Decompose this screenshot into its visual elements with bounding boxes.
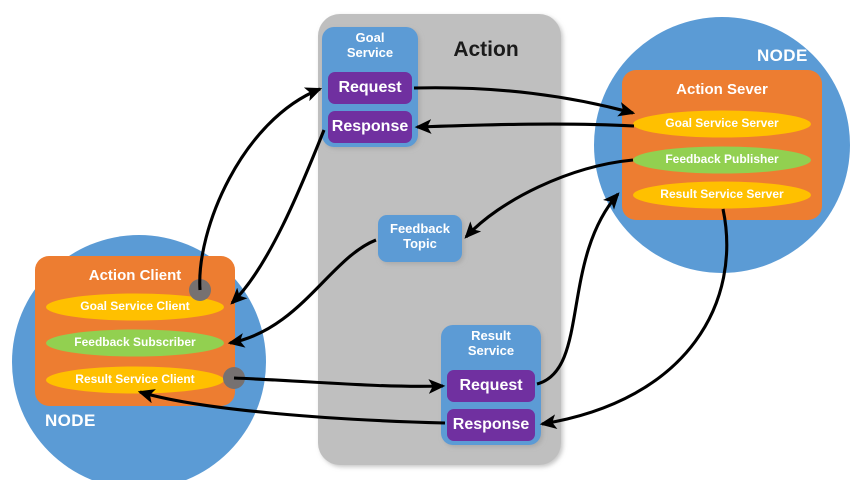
pill-label-result-service-server[interactable]: Result Service Server <box>633 188 811 201</box>
pill-label-goal-service-server[interactable]: Goal Service Server <box>633 117 811 130</box>
client-result-connector-dot <box>223 367 245 389</box>
goal-service-title: Goal Service <box>322 31 418 60</box>
result-service-title: Result Service <box>441 329 541 358</box>
diagram-canvas: Action Goal Service Request Response Fee… <box>0 0 854 480</box>
server-node-label: NODE <box>757 46 827 65</box>
pill-label-feedback-publisher[interactable]: Feedback Publisher <box>633 153 811 166</box>
goal-request-label[interactable]: Request <box>328 79 412 97</box>
pill-label-feedback-subscriber[interactable]: Feedback Subscriber <box>46 336 224 349</box>
pill-label-goal-service-client[interactable]: Goal Service Client <box>46 300 224 313</box>
result-request-label[interactable]: Request <box>447 377 535 395</box>
pill-label-result-service-client[interactable]: Result Service Client <box>46 373 224 386</box>
result-response-label[interactable]: Response <box>447 416 535 434</box>
goal-response-label[interactable]: Response <box>328 118 412 136</box>
action-panel-title: Action <box>436 38 536 62</box>
action-client-title: Action Client <box>35 268 235 285</box>
client-node-label: NODE <box>45 411 115 430</box>
feedback-topic-label[interactable]: Feedback Topic <box>378 222 462 251</box>
action-server-title: Action Sever <box>622 82 822 99</box>
